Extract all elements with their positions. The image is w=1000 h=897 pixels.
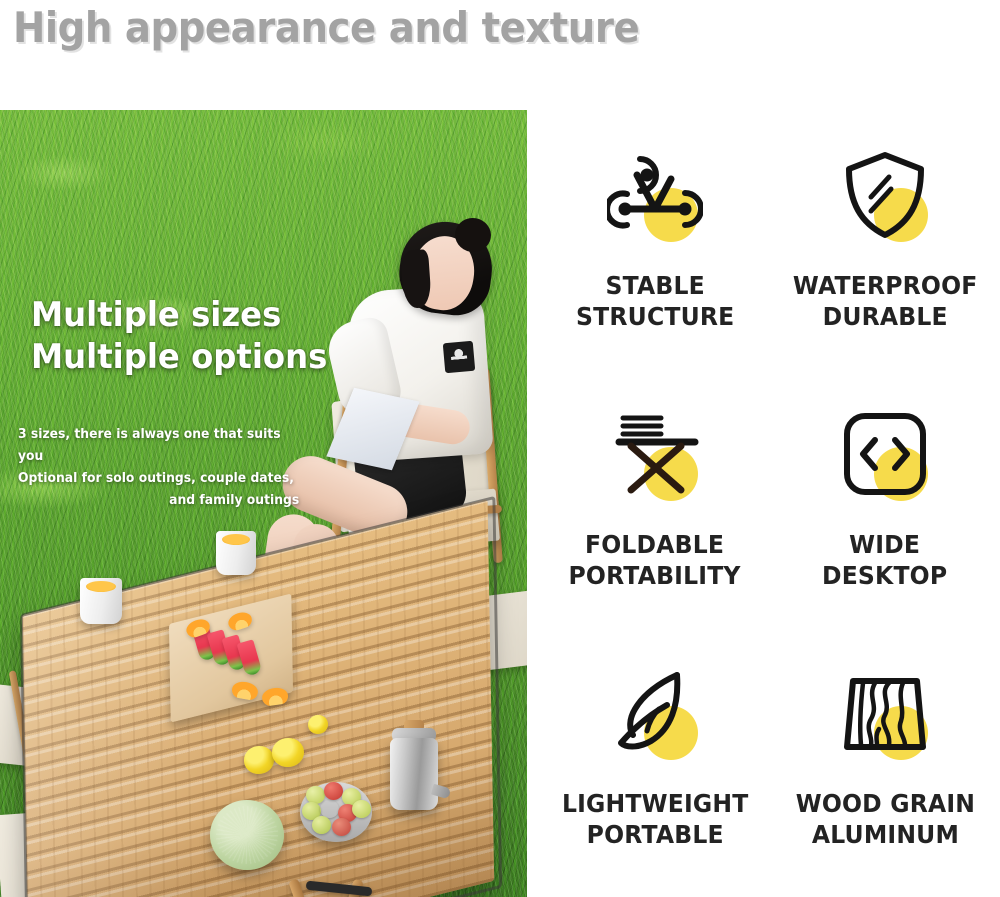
feature-label-line-1: WATERPROOF: [793, 271, 978, 300]
feature-stable-structure: STABLE STRUCTURE: [540, 120, 770, 379]
overlay-title-line-2: Multiple options: [31, 337, 327, 377]
icon-wrapper: [600, 658, 710, 768]
node-network-icon: [607, 149, 703, 241]
table-legs: [276, 880, 406, 897]
feature-label-line-2: PORTABILITY: [569, 561, 741, 590]
fruit: [312, 816, 331, 834]
fruit-bowl: [300, 782, 372, 842]
cantaloupe-melon: [210, 800, 284, 870]
feature-label-line-1: LIGHTWEIGHT: [562, 789, 748, 818]
feature-foldable-portability: FOLDABLE PORTABILITY: [540, 379, 770, 638]
stainless-kettle: [390, 738, 438, 810]
feature-label-line-1: WIDE: [850, 530, 921, 559]
feature-label-line-1: WOOD GRAIN: [795, 789, 974, 818]
page-title: High appearance and texture: [13, 0, 712, 56]
juice-surface: [86, 581, 116, 592]
feature-label-line-2: DESKTOP: [822, 561, 947, 590]
overlay-title-line-1: Multiple sizes: [31, 295, 281, 335]
feature-label: FOLDABLE PORTABILITY: [569, 529, 741, 591]
feature-label-line-2: PORTABLE: [586, 820, 723, 849]
lemon: [272, 738, 304, 767]
leaf-icon: [609, 665, 701, 761]
icon-wrapper: [830, 399, 940, 509]
feature-grid: STABLE STRUCTURE WATERPROOF DURABLE: [540, 120, 1000, 897]
feature-label: LIGHTWEIGHT PORTABLE: [562, 788, 748, 850]
feature-label-line-2: STRUCTURE: [576, 302, 734, 331]
feature-wide-desktop: WIDE DESKTOP: [770, 379, 1000, 638]
feature-label: STABLE STRUCTURE: [576, 270, 734, 332]
overlay-sub-line-3: and family outings: [18, 490, 299, 512]
lime: [308, 715, 328, 734]
fruit: [324, 782, 343, 800]
product-lifestyle-photo: Multiple sizes Multiple options 3 sizes,…: [0, 110, 527, 897]
overlay-sub-line-1: 3 sizes, there is always one that suits …: [18, 424, 299, 468]
icon-wrapper: [600, 140, 710, 250]
feature-wood-grain-aluminum: WOOD GRAIN ALUMINUM: [770, 638, 1000, 897]
lemon: [244, 746, 274, 774]
feature-label: WATERPROOF DURABLE: [793, 270, 978, 332]
shirt-logo-patch: [443, 341, 476, 374]
icon-wrapper: [830, 658, 940, 768]
fruit: [352, 800, 371, 818]
feature-label-line-1: STABLE: [605, 271, 704, 300]
overlay-sub-line-2: Optional for solo outings, couple dates,: [18, 468, 299, 490]
feature-label: WOOD GRAIN ALUMINUM: [795, 788, 974, 850]
folding-table-icon: [605, 408, 705, 500]
feature-label: WIDE DESKTOP: [822, 529, 947, 591]
juice-surface: [222, 534, 250, 545]
feature-label-line-2: DURABLE: [822, 302, 947, 331]
photo-overlay-subtitle: 3 sizes, there is always one that suits …: [18, 424, 299, 512]
wood-grain-icon: [839, 667, 931, 759]
feature-label-line-2: ALUMINUM: [811, 820, 958, 849]
shield-icon: [839, 147, 931, 243]
icon-wrapper: [830, 140, 940, 250]
expand-arrows-icon: [839, 408, 931, 500]
icon-wrapper: [600, 399, 710, 509]
feature-waterproof-durable: WATERPROOF DURABLE: [770, 120, 1000, 379]
feature-lightweight-portable: LIGHTWEIGHT PORTABLE: [540, 638, 770, 897]
photo-overlay-title: Multiple sizes Multiple options: [31, 294, 440, 378]
feature-label-line-1: FOLDABLE: [585, 530, 724, 559]
fruit: [332, 818, 351, 836]
